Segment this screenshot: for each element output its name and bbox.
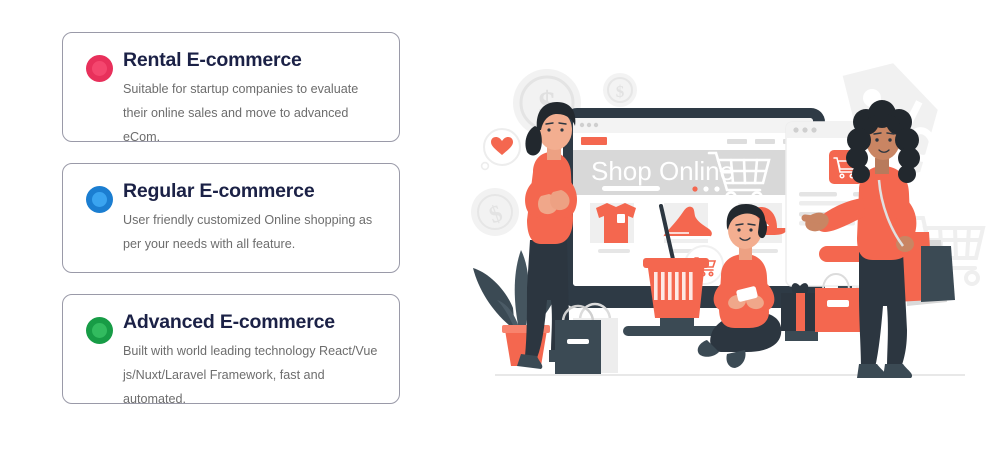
svg-text:$: $ — [616, 82, 625, 101]
feature-card-title: Rental E-commerce — [123, 49, 381, 71]
circle-dot-icon — [86, 186, 113, 213]
circle-dot-icon — [86, 317, 113, 344]
dollar-coin-small: $ — [603, 73, 637, 107]
online-shopping-illustration: $ $ $ $ — [455, 0, 1000, 464]
feature-card-content: Regular E-commerce User friendly customi… — [123, 180, 381, 256]
heart-bubble — [482, 129, 520, 169]
feature-card-advanced[interactable]: Advanced E-commerce Built with world lea… — [62, 294, 400, 404]
dollar-coin-small: $ — [471, 188, 519, 236]
feature-card-title: Advanced E-commerce — [123, 311, 381, 333]
feature-card-list: Rental E-commerce Suitable for startup c… — [62, 32, 400, 404]
feature-card-rental[interactable]: Rental E-commerce Suitable for startup c… — [62, 32, 400, 142]
feature-card-content: Advanced E-commerce Built with world lea… — [123, 311, 381, 411]
feature-card-title: Regular E-commerce — [123, 180, 381, 202]
feature-card-description: Built with world leading technology Reac… — [123, 339, 381, 411]
shop-online-heading: Shop Online — [591, 156, 734, 186]
feature-card-content: Rental E-commerce Suitable for startup c… — [123, 49, 381, 149]
circle-dot-icon — [86, 55, 113, 82]
feature-card-regular[interactable]: Regular E-commerce User friendly customi… — [62, 163, 400, 273]
page-root: Rental E-commerce Suitable for startup c… — [0, 0, 1000, 464]
feature-card-description: User friendly customized Online shopping… — [123, 208, 381, 256]
feature-card-description: Suitable for startup companies to evalua… — [123, 77, 381, 149]
